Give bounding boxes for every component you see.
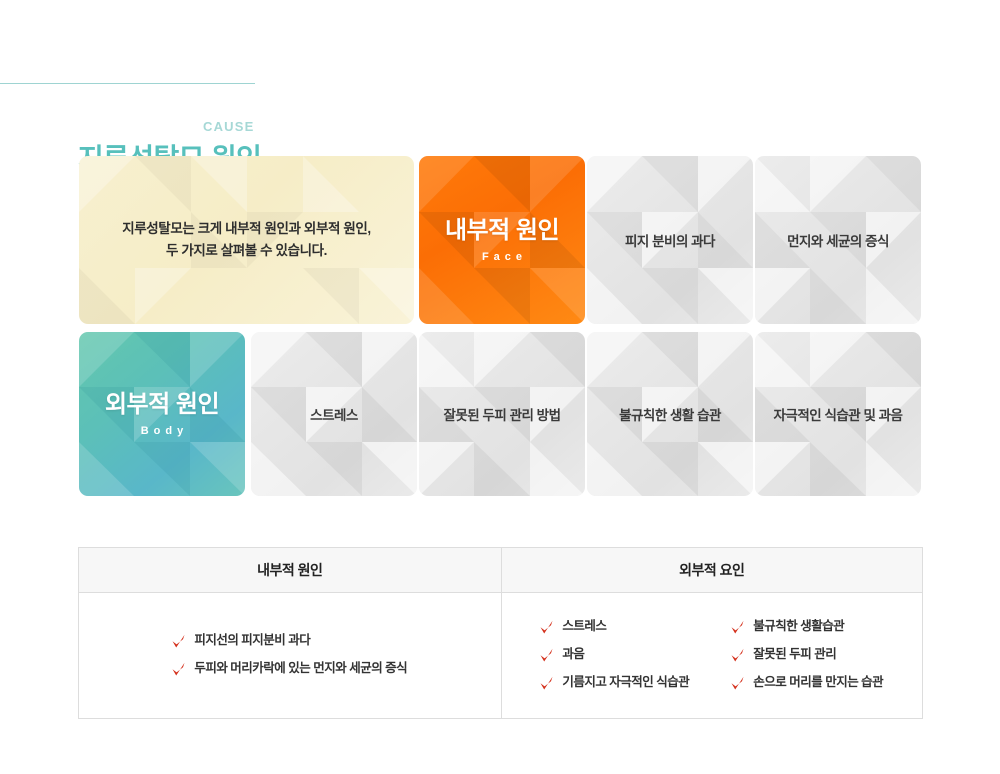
list-item: 기름지고 자극적인 식습관 <box>540 676 689 691</box>
card-internal-hero-label: 내부적 원인 Face <box>445 217 559 263</box>
check-icon <box>731 676 744 691</box>
card-external-item-2[interactable]: 불규칙한 생활 습관 <box>587 332 753 496</box>
card-external-item-0[interactable]: 스트레스 <box>251 332 417 496</box>
list-item: 스트레스 <box>540 620 689 635</box>
list-item-label: 잘못된 두피 관리 <box>753 648 836 662</box>
list-item-label: 불규칙한 생활습관 <box>753 620 844 634</box>
card-internal-hero-title: 내부적 원인 <box>445 217 559 246</box>
list-item-label: 피지선의 피지분비 과다 <box>194 634 310 648</box>
card-internal-hero-subtitle: Face <box>445 251 559 263</box>
card-internal-item-0[interactable]: 피지 분비의 과다 <box>587 156 753 324</box>
card-internal-item-0-label: 피지 분비의 과다 <box>625 230 715 250</box>
check-icon <box>172 662 185 677</box>
card-internal-item-1-label: 먼지와 세균의 증식 <box>787 230 889 250</box>
list-item: 불규칙한 생활습관 <box>731 620 883 635</box>
table-cell-internal: 피지선의 피지분비 과다 두피와 머리카락에 있는 먼지와 세균의 증식 <box>79 593 501 718</box>
table-header-internal: 내부적 원인 <box>79 548 501 592</box>
list-item: 두피와 머리카락에 있는 먼지와 세균의 증식 <box>172 662 407 677</box>
table-header-row: 내부적 원인 외부적 요인 <box>79 548 922 593</box>
check-icon <box>731 648 744 663</box>
list-item: 손으로 머리를 만지는 습관 <box>731 676 883 691</box>
page-root: CAUSE 지루성탈모 원인 지루성탈모는 크게 내부적 원인과 외부적 원인, <box>0 0 1000 774</box>
card-external-item-3-label: 자극적인 식습관 및 과음 <box>774 404 903 424</box>
check-icon <box>540 620 553 635</box>
list-item-label: 스트레스 <box>562 620 606 634</box>
list-item-label: 손으로 머리를 만지는 습관 <box>753 676 883 690</box>
external-check-list-left: 스트레스 과음 기름지고 자극적인 식습관 <box>540 620 689 691</box>
card-internal-cause-hero[interactable]: 내부적 원인 Face <box>419 156 585 324</box>
external-check-columns: 스트레스 과음 기름지고 자극적인 식습관 <box>540 620 883 691</box>
check-icon <box>540 648 553 663</box>
list-item: 잘못된 두피 관리 <box>731 648 883 663</box>
intro-line-2: 두 가지로 살펴볼 수 있습니다. <box>166 243 327 258</box>
external-check-list-right: 불규칙한 생활습관 잘못된 두피 관리 손으로 머리 <box>731 620 883 691</box>
list-item-label: 기름지고 자극적인 식습관 <box>562 676 689 690</box>
table-header-external: 외부적 요인 <box>501 548 923 592</box>
intro-line-1: 지루성탈모는 크게 내부적 원인과 외부적 원인, <box>122 221 370 236</box>
card-external-hero-label: 외부적 원인 Body <box>105 391 219 437</box>
table-cell-external: 스트레스 과음 기름지고 자극적인 식습관 <box>501 593 923 718</box>
cause-summary-table: 내부적 원인 외부적 요인 피지선의 피지분비 과다 <box>78 547 923 719</box>
card-external-item-0-label: 스트레스 <box>310 404 358 424</box>
card-intro-text: 지루성탈모는 크게 내부적 원인과 외부적 원인, 두 가지로 살펴볼 수 있습… <box>122 218 370 263</box>
card-external-item-3[interactable]: 자극적인 식습관 및 과음 <box>755 332 921 496</box>
card-external-item-1[interactable]: 잘못된 두피 관리 방법 <box>419 332 585 496</box>
card-intro: 지루성탈모는 크게 내부적 원인과 외부적 원인, 두 가지로 살펴볼 수 있습… <box>79 156 414 324</box>
card-external-item-2-label: 불규칙한 생활 습관 <box>619 404 721 424</box>
card-internal-item-1[interactable]: 먼지와 세균의 증식 <box>755 156 921 324</box>
list-item-label: 두피와 머리카락에 있는 먼지와 세균의 증식 <box>194 662 407 676</box>
card-external-hero-title: 외부적 원인 <box>105 391 219 420</box>
check-icon <box>172 634 185 649</box>
check-icon <box>540 676 553 691</box>
internal-check-list: 피지선의 피지분비 과다 두피와 머리카락에 있는 먼지와 세균의 증식 <box>172 634 407 677</box>
list-item: 과음 <box>540 648 689 663</box>
card-external-cause-hero[interactable]: 외부적 원인 Body <box>79 332 245 496</box>
check-icon <box>731 620 744 635</box>
list-item-label: 과음 <box>562 648 584 662</box>
card-external-item-1-label: 잘못된 두피 관리 방법 <box>443 404 560 424</box>
table-body-row: 피지선의 피지분비 과다 두피와 머리카락에 있는 먼지와 세균의 증식 <box>79 593 922 718</box>
card-external-hero-subtitle: Body <box>105 425 219 437</box>
list-item: 피지선의 피지분비 과다 <box>172 634 407 649</box>
